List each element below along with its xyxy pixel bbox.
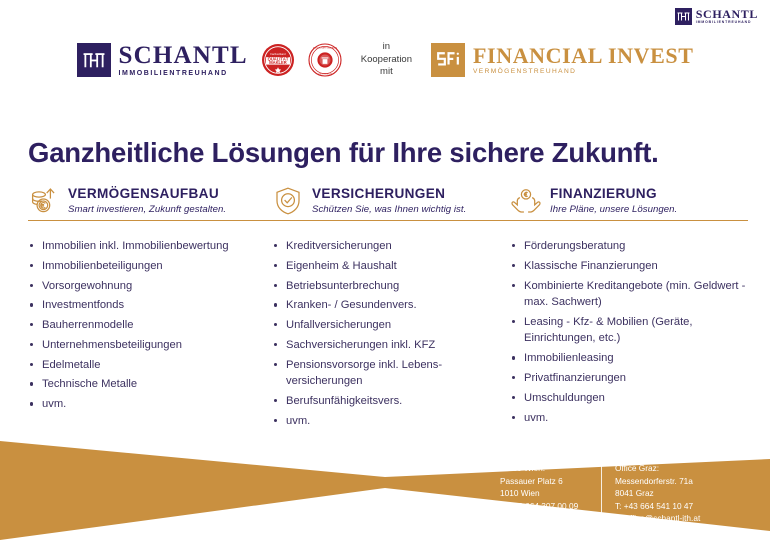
corner-logo-schantl: SCHANTL IMMOBILIENTREUHAND [675, 8, 758, 25]
office-phone[interactable]: T: +43 664 307 00 09 [500, 500, 589, 513]
section-header-versicherungen: VERSICHERUNGEN Schützen Sie, was Ihnen w… [272, 182, 510, 220]
list-item: Technische Metalle [28, 376, 272, 393]
coins-euro-arrow-icon [28, 185, 60, 217]
gold-divider-rule [28, 220, 748, 221]
list-item: Eigenheim & Haushalt [272, 258, 510, 275]
section-header-finanzierung: FINANZIERUNG Ihre Pläne, unsere Lösungen… [510, 182, 748, 220]
office-phone[interactable]: T: +43 664 541 10 47 [615, 500, 700, 513]
logo-schantl-ith: SCHANTL IMMOBILIENTREUHAND [77, 43, 248, 77]
svg-text:WIRTSCHAFTSKAMMER: WIRTSCHAFTSKAMMER [313, 46, 338, 49]
page-headline: Ganzheitliche Lösungen für Ihre sichere … [28, 138, 742, 168]
hands-coin-icon [510, 185, 542, 217]
list-item: Edelmetalle [28, 357, 272, 374]
list-item: Klassische Finanzierungen [510, 258, 748, 275]
list-item: Kombinierte Kreditangebote (min. Geldwer… [510, 278, 748, 311]
cooperation-note: in Kooperation mit [361, 41, 412, 79]
sfi-wordmark: FINANCIAL INVEST VERMÖGENSTREUHAND [473, 45, 693, 76]
list-item: Bauherrenmodelle [28, 317, 272, 334]
list-item: Sachversicherungen inkl. KFZ [272, 337, 510, 354]
office-street: Passauer Platz 6 [500, 475, 589, 488]
section-subtitle: Schützen Sie, was Ihnen wichtig ist. [312, 205, 466, 215]
section-title: VERSICHERUNGEN [312, 187, 466, 201]
shield-check-icon [272, 185, 304, 217]
section-title: VERMÖGENSAUFBAU [68, 187, 226, 201]
wirtschaftskammer-seal-icon: WIRTSCHAFTSKAMMER ÖSTERREICH [308, 43, 342, 77]
office-name: Office Wien: [500, 462, 589, 475]
office-wien: Office Wien: Passauer Platz 6 1010 Wien … [500, 462, 601, 525]
office-city: 8041 Graz [615, 487, 700, 500]
svg-text:Fachverband: Fachverband [270, 52, 286, 56]
footer-offices: Office Wien: Passauer Platz 6 1010 Wien … [500, 462, 700, 525]
office-email[interactable]: E: office@schantl-ith.at [615, 512, 700, 525]
sfi-name: FINANCIAL INVEST [473, 45, 693, 67]
list-versicherungen: KreditversicherungenEigenheim & Haushalt… [272, 238, 510, 432]
ith-monogram-icon [77, 43, 111, 77]
corner-logo-name: SCHANTL [696, 8, 758, 20]
section-title: FINANZIERUNG [550, 187, 677, 201]
office-city: 1010 Wien [500, 487, 589, 500]
schantl-name: SCHANTL [119, 43, 248, 68]
list-item: Privatfinanzierungen [510, 370, 748, 387]
office-street: Messendorferstr. 71a [615, 475, 700, 488]
office-graz: Office Graz: Messendorferstr. 71a 8041 G… [601, 462, 700, 525]
list-item: Vorsorgewohnung [28, 278, 272, 295]
list-item: Kranken- / Gesundenvers. [272, 297, 510, 314]
list-item: Unfallversicherungen [272, 317, 510, 334]
list-finanzierung: FörderungsberatungKlassische Finanzierun… [510, 238, 748, 432]
sfi-monogram-icon [431, 43, 465, 77]
sfi-tagline: VERMÖGENSTREUHAND [473, 69, 693, 76]
corner-logo-wordmark: SCHANTL IMMOBILIENTREUHAND [696, 8, 758, 24]
brochure-page: SCHANTL IMMOBILIENTREUHAND [0, 0, 770, 543]
list-item: Unternehmensbeteiligungen [28, 337, 272, 354]
section-headers: VERMÖGENSAUFBAU Smart investieren, Zukun… [28, 182, 748, 220]
list-item: Immobilien inkl. Immobilienbewertung [28, 238, 272, 255]
list-item: Immobilienbeteiligungen [28, 258, 272, 275]
svg-text:ÖSTERREICH: ÖSTERREICH [318, 73, 332, 76]
cooperation-line-2: Kooperation [361, 54, 412, 65]
section-subtitle: Smart investieren, Zukunft gestalten. [68, 205, 226, 215]
list-item: Berufsunfähigkeitsvers. [272, 393, 510, 410]
office-name: Office Graz: [615, 462, 700, 475]
svg-text:MAKLER: MAKLER [269, 60, 287, 65]
logo-sfi-financial-invest: FINANCIAL INVEST VERMÖGENSTREUHAND [431, 43, 693, 77]
qualitaet-makler-seal-icon: Fachverband QUALITÄT MAKLER [261, 43, 295, 77]
list-item: uvm. [28, 396, 272, 413]
list-item: Kreditversicherungen [272, 238, 510, 255]
list-item: Pensionsvorsorge inkl. Lebens-versicheru… [272, 357, 510, 390]
list-item: Immobilienleasing [510, 350, 748, 367]
list-vermoegensaufbau: Immobilien inkl. ImmobilienbewertungImmo… [28, 238, 272, 432]
list-item: uvm. [510, 410, 748, 427]
service-lists: Immobilien inkl. ImmobilienbewertungImmo… [28, 238, 748, 432]
schantl-wordmark: SCHANTL IMMOBILIENTREUHAND [119, 43, 248, 77]
list-item: Investmentfonds [28, 297, 272, 314]
section-subtitle: Ihre Pläne, unsere Lösungen. [550, 205, 677, 215]
ith-monogram-icon [675, 8, 692, 25]
list-item: uvm. [272, 413, 510, 430]
partner-logo-strip: SCHANTL IMMOBILIENTREUHAND Fachverband Q… [0, 34, 770, 86]
list-item: Leasing - Kfz- & Mobilien (Geräte, Einri… [510, 314, 748, 347]
corner-logo-tagline: IMMOBILIENTREUHAND [696, 21, 758, 24]
office-email[interactable]: E: office@sfi-invest.com [500, 512, 589, 525]
list-item: Förderungsberatung [510, 238, 748, 255]
section-header-vermoegensaufbau: VERMÖGENSAUFBAU Smart investieren, Zukun… [28, 182, 272, 220]
list-item: Betriebsunterbrechung [272, 278, 510, 295]
schantl-tagline: IMMOBILIENTREUHAND [119, 70, 248, 77]
cooperation-line-3: mit [380, 66, 393, 77]
cooperation-line-1: in [383, 41, 390, 52]
list-item: Umschuldungen [510, 390, 748, 407]
